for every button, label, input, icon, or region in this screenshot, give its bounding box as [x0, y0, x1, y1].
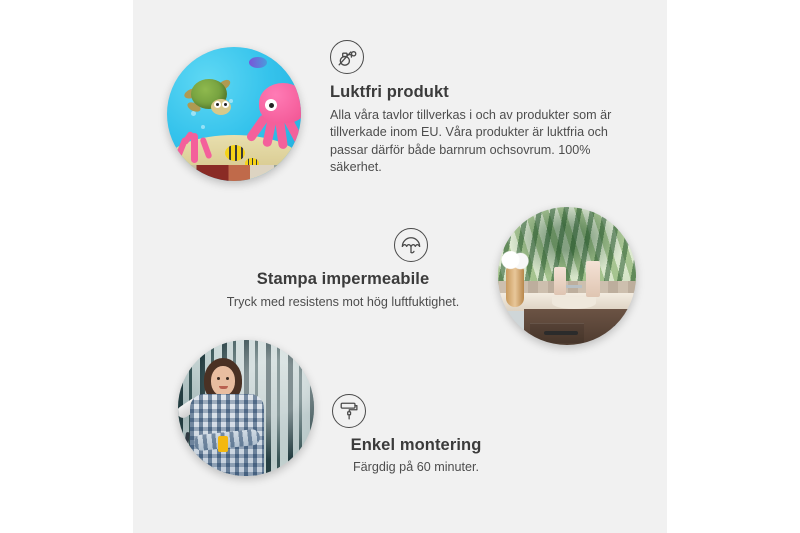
ocean-foreground-strip: [167, 165, 301, 181]
feature-odour-free: Luktfri produkt Alla våra tavlor tillver…: [330, 40, 630, 177]
product-feature-banner: Luktfri produkt Alla våra tavlor tillver…: [0, 0, 800, 533]
feature-title: Stampa impermeabile: [212, 270, 474, 289]
masking-tape: [218, 436, 228, 452]
photo-bathroom-tropical[interactable]: [498, 207, 636, 345]
coral-graphic: [175, 127, 217, 163]
flowers: [500, 251, 530, 271]
paint-roller-icon: [332, 394, 366, 428]
face: [211, 366, 235, 396]
sink: [552, 297, 596, 309]
photo-underwater-cartoon[interactable]: [167, 47, 301, 181]
vanity-cabinet: [524, 309, 636, 345]
vase: [506, 265, 524, 307]
no-fragrance-icon: [330, 40, 364, 74]
fish-graphic: [225, 145, 245, 161]
bottle: [554, 267, 566, 295]
turtle-graphic: [183, 77, 237, 117]
octopus-graphic: [245, 83, 301, 155]
feature-waterproof: Stampa impermeabile Tryck med resistens …: [212, 228, 474, 311]
feature-title: Luktfri produkt: [330, 83, 630, 102]
fish-graphic: [249, 57, 267, 68]
umbrella-icon: [394, 228, 428, 262]
feature-easy-mounting: Enkel montering Färgdig på 60 minuter.: [316, 394, 516, 476]
feature-description: Tryck med resistens mot hög luftfuktighe…: [212, 294, 474, 311]
bottle: [586, 261, 600, 297]
feature-title: Enkel montering: [316, 436, 516, 455]
photo-woman-forest-mural[interactable]: [178, 340, 314, 476]
feature-description: Färgdig på 60 minuter.: [316, 459, 516, 476]
feature-description: Alla våra tavlor tillverkas i och av pro…: [330, 107, 622, 177]
